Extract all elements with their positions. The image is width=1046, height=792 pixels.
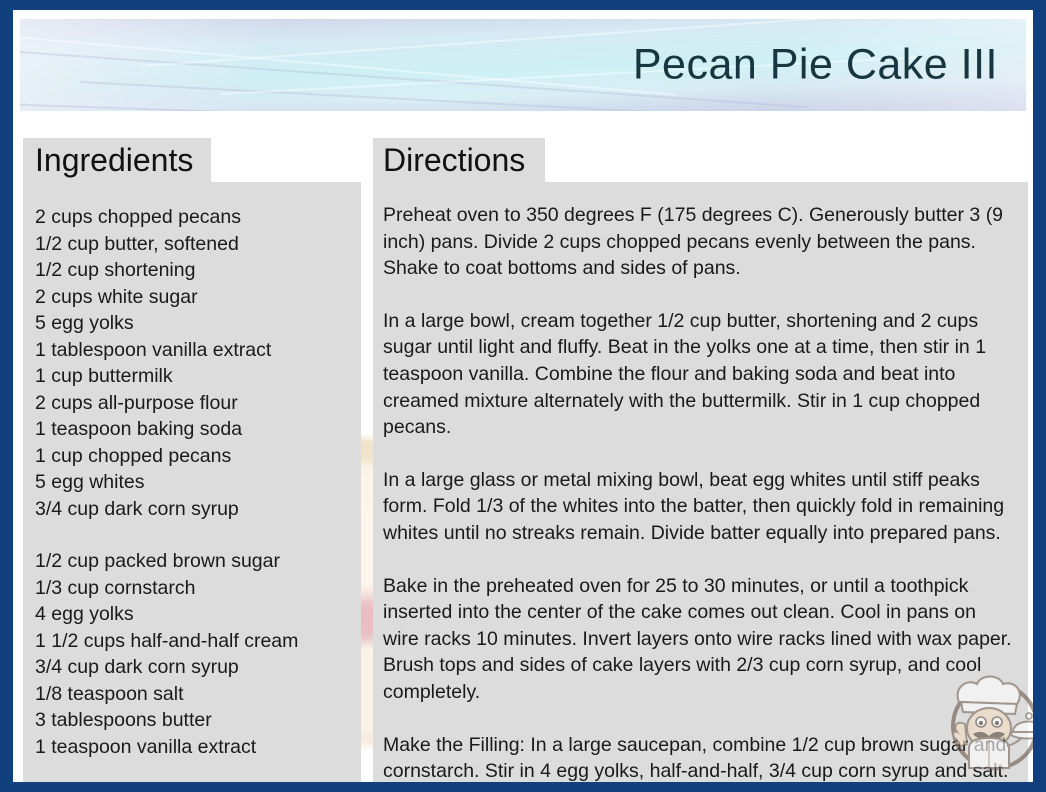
list-item: 1/8 teaspoon salt [35, 681, 349, 708]
list-item: 5 egg whites [35, 469, 349, 496]
ingredient-group-separator [35, 522, 349, 548]
directions-list: Preheat oven to 350 degrees F (175 degre… [383, 202, 1014, 782]
direction-step: Bake in the preheated oven for 25 to 30 … [383, 573, 1014, 706]
direction-step: Preheat oven to 350 degrees F (175 degre… [383, 202, 1014, 282]
list-item: 1/2 cup packed brown sugar [35, 548, 349, 575]
list-item: 2 cups chopped pecans [35, 204, 349, 231]
recipe-card-inner: Pecan Pie Cake III [13, 10, 1033, 782]
list-item: 1 tablespoon vanilla extract [35, 337, 349, 364]
direction-step: Make the Filling: In a large saucepan, c… [383, 732, 1014, 783]
ingredients-list: 2 cups chopped pecans 1/2 cup butter, so… [35, 204, 349, 760]
title-banner: Pecan Pie Cake III [20, 19, 1026, 111]
list-item: 3/4 cup dark corn syrup [35, 496, 349, 523]
list-item: 1/3 cup cornstarch [35, 575, 349, 602]
directions-heading: Directions [373, 138, 545, 186]
list-item: 4 egg yolks [35, 601, 349, 628]
list-item: 1/2 cup shortening [35, 257, 349, 284]
list-item: 1 teaspoon baking soda [35, 416, 349, 443]
list-item: 1 cup chopped pecans [35, 443, 349, 470]
ingredients-heading: Ingredients [23, 138, 211, 186]
list-item: 1/2 cup butter, softened [35, 231, 349, 258]
list-item: 1 cup buttermilk [35, 363, 349, 390]
direction-step: In a large bowl, cream together 1/2 cup … [383, 308, 1014, 441]
list-item: 1 teaspoon vanilla extract [35, 734, 349, 761]
list-item: 2 cups white sugar [35, 284, 349, 311]
list-item: 2 cups all-purpose flour [35, 390, 349, 417]
page-title: Pecan Pie Cake III [633, 41, 998, 90]
ingredients-panel: 2 cups chopped pecans 1/2 cup butter, so… [23, 182, 361, 782]
list-item: 3/4 cup dark corn syrup [35, 654, 349, 681]
list-item: 5 egg yolks [35, 310, 349, 337]
directions-panel: Preheat oven to 350 degrees F (175 degre… [373, 182, 1028, 782]
direction-step: In a large glass or metal mixing bowl, b… [383, 467, 1014, 547]
list-item: 3 tablespoons butter [35, 707, 349, 734]
recipe-card: Pecan Pie Cake III [0, 0, 1046, 792]
list-item: 1 1/2 cups half-and-half cream [35, 628, 349, 655]
